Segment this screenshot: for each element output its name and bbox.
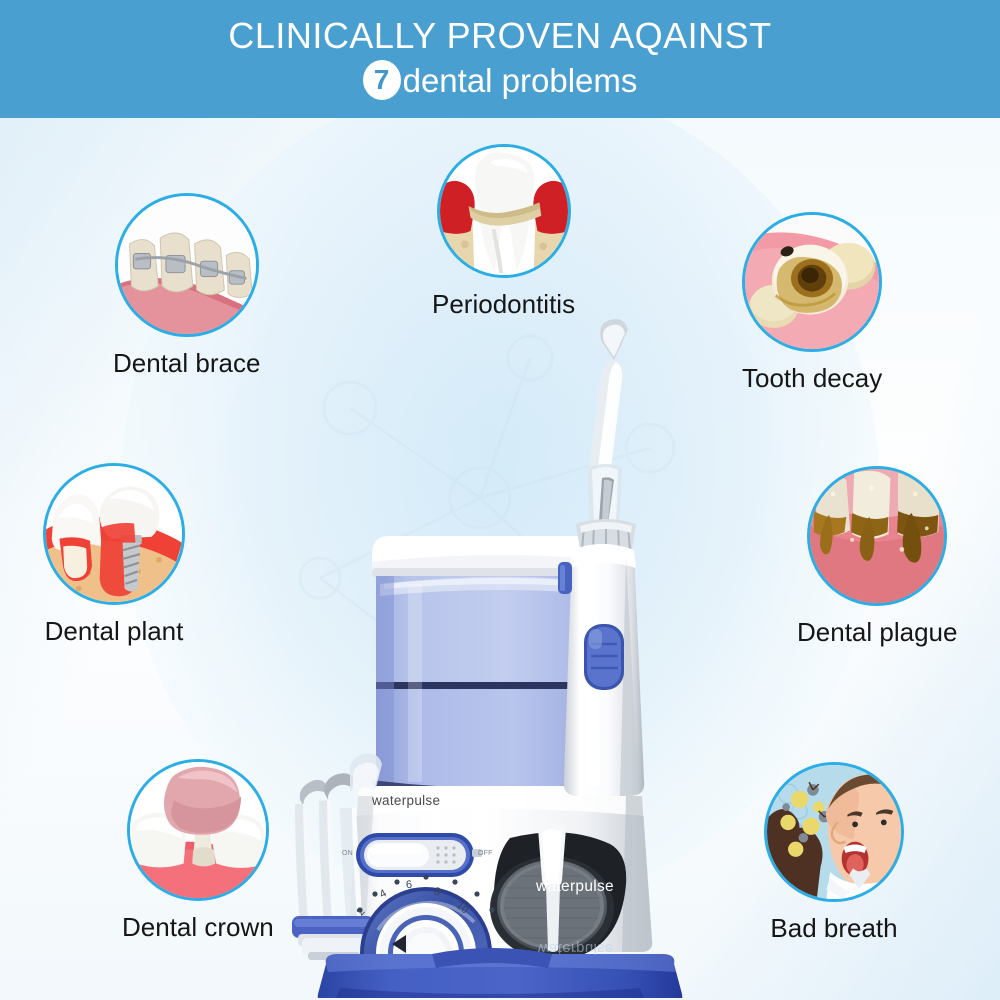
product-brand-base: waterpulse (536, 878, 614, 896)
pressure-scale: 2 4 6 8 10 (342, 868, 472, 918)
header-banner: CLINICALLY PROVEN AQAINST 7 dental probl… (0, 0, 1000, 118)
dental-brace-image (115, 193, 259, 337)
dental-plague-label: Dental plague (797, 617, 957, 648)
feature-tooth-decay[interactable]: Tooth decay (742, 212, 882, 394)
tooth-decay-label: Tooth decay (742, 363, 882, 394)
braces-teeth-icon (118, 196, 256, 334)
feature-dental-plant[interactable]: Dental plant (43, 463, 185, 647)
periodontitis-image (437, 144, 571, 278)
problem-count-badge: 7 (363, 60, 401, 100)
feature-bad-breath[interactable]: Bad breath (764, 762, 904, 944)
header-subtitle: dental problems (403, 64, 638, 97)
pressure-scale-10: 10 (454, 899, 471, 916)
feature-dental-plague[interactable]: Dental plague (797, 466, 957, 648)
feature-dental-crown[interactable]: Dental crown (122, 759, 274, 943)
dental-plant-image (43, 463, 185, 605)
product-marketing-image: CLINICALLY PROVEN AQAINST 7 dental probl… (0, 0, 1000, 1000)
bad-breath-image (764, 762, 904, 902)
header-subtitle-row: 7 dental problems (363, 60, 638, 100)
dental-crown-label: Dental crown (122, 912, 274, 943)
inflamed-gum-tooth-icon (440, 147, 568, 275)
dental-plague-image (807, 466, 947, 606)
dental-plant-label: Dental plant (45, 616, 184, 647)
feature-dental-brace[interactable]: Dental brace (113, 193, 260, 379)
bad-breath-label: Bad breath (770, 913, 897, 944)
tartar-teeth-icon (810, 469, 944, 603)
dental-crown-image (127, 759, 269, 901)
tooth-decay-image (742, 212, 882, 352)
cavity-molar-icon (745, 215, 879, 349)
pressure-scale-2: 2 (355, 906, 368, 919)
halitosis-person-icon (767, 765, 901, 899)
pressure-scale-6: 6 (405, 879, 412, 891)
power-off-label: OFF (478, 850, 493, 857)
periodontitis-label: Periodontitis (432, 289, 575, 320)
pressure-scale-8: 8 (432, 885, 442, 898)
product-brand-top: waterpulse (372, 793, 440, 808)
product-brand-reflection: waterpulse (538, 940, 614, 957)
feature-periodontitis[interactable]: Periodontitis (432, 144, 575, 320)
dental-brace-label: Dental brace (113, 348, 260, 379)
handle-wand (540, 318, 670, 798)
content-stage: Dental brace (0, 118, 1000, 1000)
implant-screw-icon (46, 466, 182, 602)
power-on-label: ON (342, 850, 353, 857)
pressure-scale-4: 4 (378, 887, 389, 900)
crown-tooth-icon (130, 762, 266, 898)
header-title: CLINICALLY PROVEN AQAINST (228, 18, 771, 54)
